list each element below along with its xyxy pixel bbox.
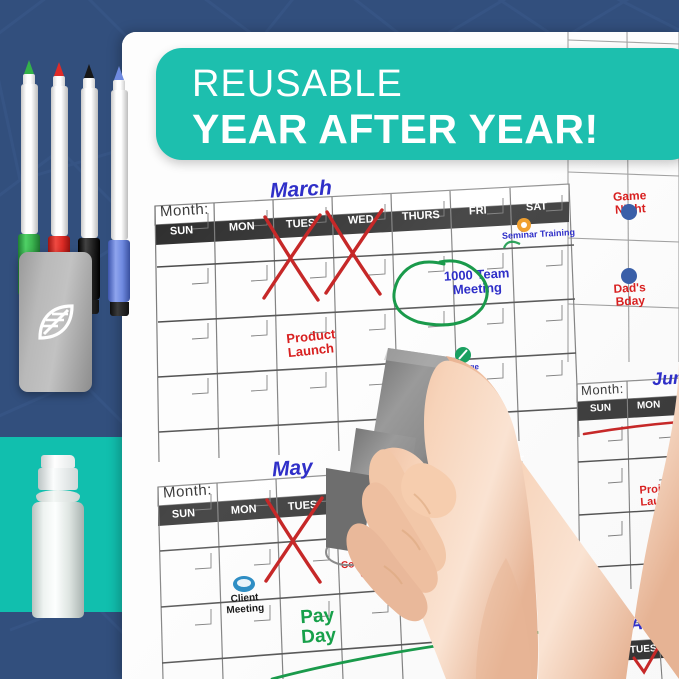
hand-holding-eraser xyxy=(326,318,679,679)
month-label-may: Month: xyxy=(162,481,212,501)
green-marker-barrel xyxy=(21,84,38,234)
green-marker-tip xyxy=(24,60,34,74)
green-marker-neck xyxy=(23,74,35,84)
blue-marker[interactable] xyxy=(108,66,130,316)
eraser[interactable] xyxy=(19,252,92,392)
spray-collar xyxy=(38,468,78,490)
banner-line-2: YEAR AFTER YEAR! xyxy=(192,106,679,152)
reusable-banner: REUSABLE YEAR AFTER YEAR! xyxy=(156,48,679,160)
month-name-march: March xyxy=(269,176,332,203)
spray-barrel xyxy=(32,502,84,618)
blue-marker-cap-end xyxy=(110,302,129,316)
red-marker-neck xyxy=(53,76,65,86)
black-marker-barrel xyxy=(81,88,98,238)
blue-marker-neck xyxy=(113,80,125,90)
tool-rail xyxy=(0,0,140,679)
banner-line-1: REUSABLE xyxy=(192,62,679,106)
month-label-march: Month: xyxy=(160,201,210,221)
red-marker-barrel xyxy=(51,86,68,236)
blue-marker-cap xyxy=(108,240,130,302)
eraser-leaf-icon xyxy=(34,300,78,344)
spray-shoulder xyxy=(36,490,80,502)
red-marker-tip xyxy=(54,62,64,76)
spray-nozzle xyxy=(41,455,75,468)
black-marker-neck xyxy=(83,78,95,88)
black-marker-tip xyxy=(84,64,94,78)
spray-bottle[interactable] xyxy=(30,455,85,618)
blue-marker-tip xyxy=(114,66,124,80)
blue-marker-barrel xyxy=(111,90,128,240)
month-name-may: May xyxy=(271,456,313,483)
